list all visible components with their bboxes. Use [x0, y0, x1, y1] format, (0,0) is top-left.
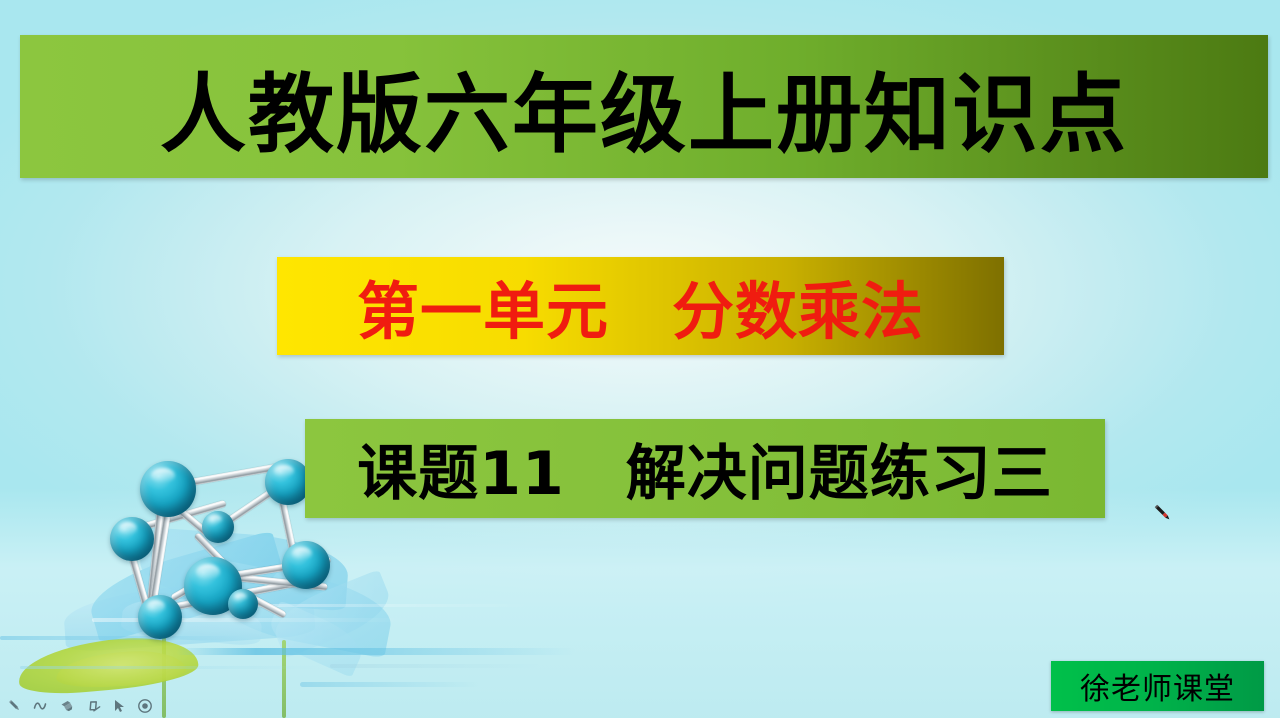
- pointer-tool[interactable]: [110, 697, 127, 714]
- lotus-petal: [207, 559, 396, 658]
- molecule-atom: [110, 517, 154, 561]
- eraser-tool[interactable]: [84, 697, 101, 714]
- molecule-atom: [282, 541, 330, 589]
- water-ripple: [250, 604, 530, 607]
- pen-cursor: [1152, 502, 1174, 524]
- presentation-slide: 人教版六年级上册知识点 第一单元 分数乘法 课题11 解决问题练习三 徐老师课堂: [0, 0, 1280, 718]
- lotus-petal: [120, 593, 263, 647]
- laser-pointer-tool[interactable]: [136, 697, 153, 714]
- lesson-text: 课题11 解决问题练习三: [357, 425, 1053, 512]
- lotus-petal: [83, 530, 288, 644]
- plant-stem: [282, 640, 286, 718]
- ink-toolbar[interactable]: [6, 697, 153, 714]
- highlighter-tool[interactable]: [58, 697, 75, 714]
- water-ripple: [0, 636, 250, 640]
- molecule-atom: [228, 589, 258, 619]
- lotus-petal: [264, 600, 369, 677]
- title-text: 人教版六年级上册知识点: [160, 44, 1128, 169]
- water-ripple: [92, 618, 412, 622]
- molecule-atom: [184, 557, 242, 615]
- lotus-petal: [138, 527, 350, 611]
- lily-pad-leaf: [16, 632, 200, 697]
- watermark-badge: 徐老师课堂: [1051, 661, 1264, 711]
- water-ripple: [176, 648, 576, 655]
- molecule-atom: [138, 595, 182, 639]
- lotus-petal: [62, 577, 315, 652]
- ink-squiggle-tool[interactable]: [32, 697, 49, 714]
- watermark-text: 徐老师课堂: [1080, 664, 1235, 708]
- lesson-banner: 课题11 解决问题练习三: [305, 419, 1105, 518]
- lily-pad-leaf: [55, 649, 187, 690]
- molecule-atom: [202, 511, 234, 543]
- pen-tool[interactable]: [6, 697, 23, 714]
- lotus-petal: [267, 569, 396, 658]
- water-ripple: [300, 682, 480, 687]
- water-ripple: [20, 666, 320, 669]
- water-ripple: [330, 664, 540, 668]
- unit-text: 第一单元 分数乘法: [357, 261, 924, 351]
- molecule-atom: [140, 461, 196, 517]
- title-banner: 人教版六年级上册知识点: [20, 35, 1268, 178]
- unit-banner: 第一单元 分数乘法: [277, 257, 1004, 355]
- plant-stem: [162, 626, 166, 718]
